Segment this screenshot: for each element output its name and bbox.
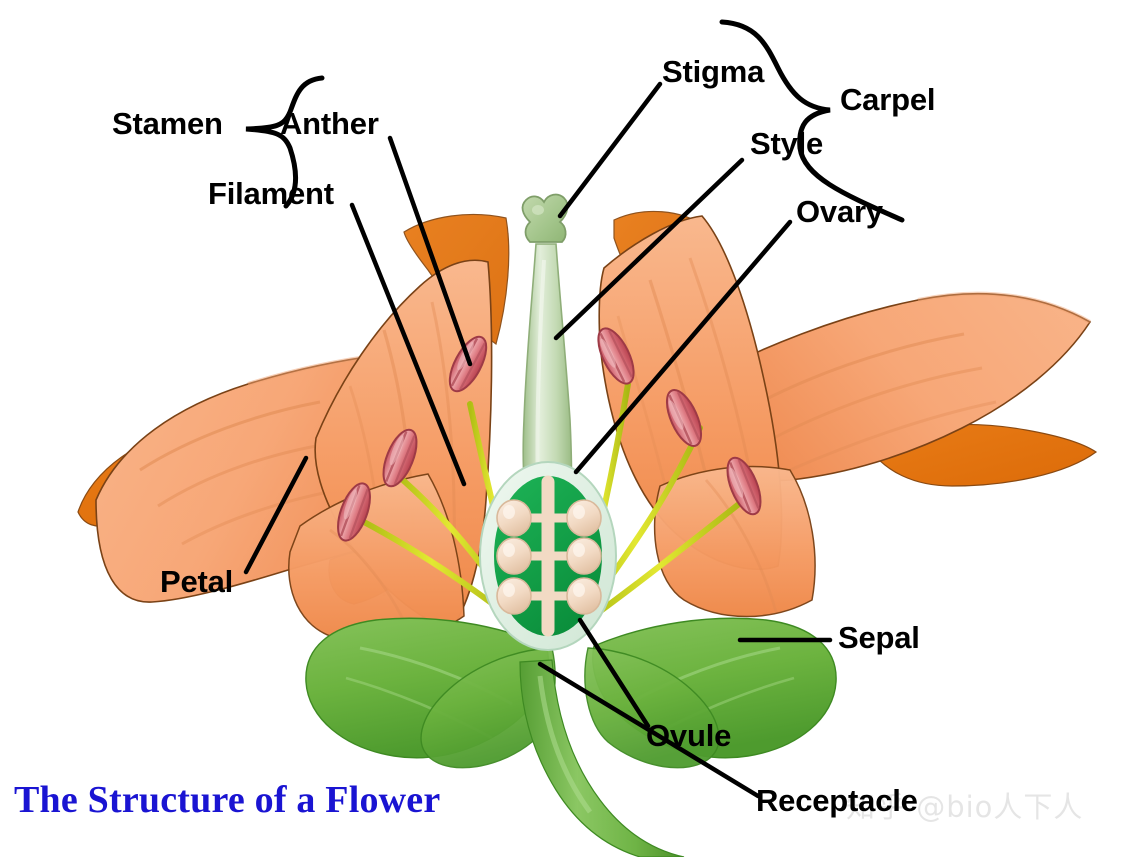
watermark-text: 知乎 @bio人下人 — [846, 784, 1083, 826]
label-anther: Anther — [280, 108, 379, 139]
label-carpel: Carpel — [840, 84, 935, 115]
label-stigma: Stigma — [662, 56, 764, 87]
label-sepal: Sepal — [838, 622, 920, 653]
label-stamen: Stamen — [112, 108, 223, 139]
ovules — [497, 500, 601, 614]
flower-diagram-canvas: Stamen Anther Filament Stigma Carpel Sty… — [0, 0, 1140, 857]
diagram-title: The Structure of a Flower — [14, 778, 440, 822]
label-ovary: Ovary — [796, 196, 883, 227]
label-petal: Petal — [160, 566, 233, 597]
label-ovule: Ovule — [646, 720, 731, 751]
label-style: Style — [750, 128, 823, 159]
label-filament: Filament — [208, 178, 334, 209]
carpel-brace — [722, 22, 902, 220]
ovary — [480, 462, 616, 650]
leader-stigma — [560, 84, 660, 216]
stigma-head — [523, 195, 568, 242]
